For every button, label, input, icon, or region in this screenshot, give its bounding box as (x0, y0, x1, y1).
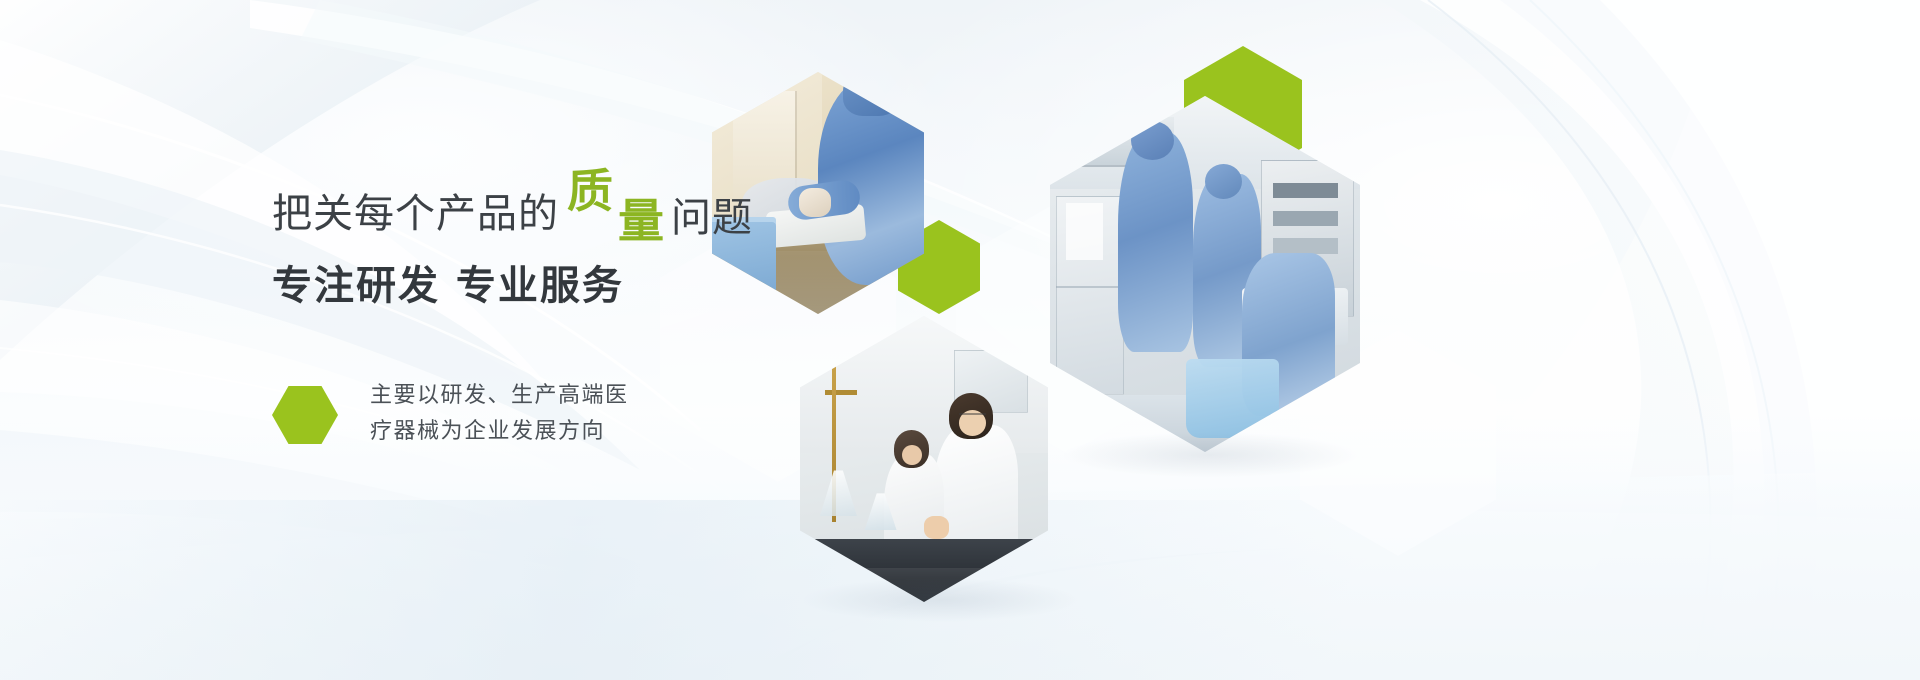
headline-part-2: 问题 (671, 198, 753, 238)
banner-copy: 把关每个产品的 质 量 问题 专注研发 专业服务 主要以研发、生产高端医 疗器械… (272, 188, 912, 451)
headline-part-1: 把关每个产品的 (272, 194, 559, 234)
headline-accent-zhi: 质 (567, 168, 614, 214)
headline-primary: 把关每个产品的 质 量 问题 (272, 188, 912, 234)
description-text: 主要以研发、生产高端医 疗器械为企业发展方向 (370, 378, 629, 451)
description-line-1: 主要以研发、生产高端医 (370, 378, 629, 414)
hero-banner: 把关每个产品的 质 量 问题 专注研发 专业服务 主要以研发、生产高端医 疗器械… (0, 0, 1920, 680)
headline-secondary: 专注研发 专业服务 (272, 264, 912, 308)
hexagon-bullet-icon (272, 386, 338, 444)
description-row: 主要以研发、生产高端医 疗器械为企业发展方向 (272, 378, 912, 451)
headline-accent-liang: 量 (618, 198, 665, 244)
description-line-2: 疗器械为企业发展方向 (370, 414, 629, 450)
